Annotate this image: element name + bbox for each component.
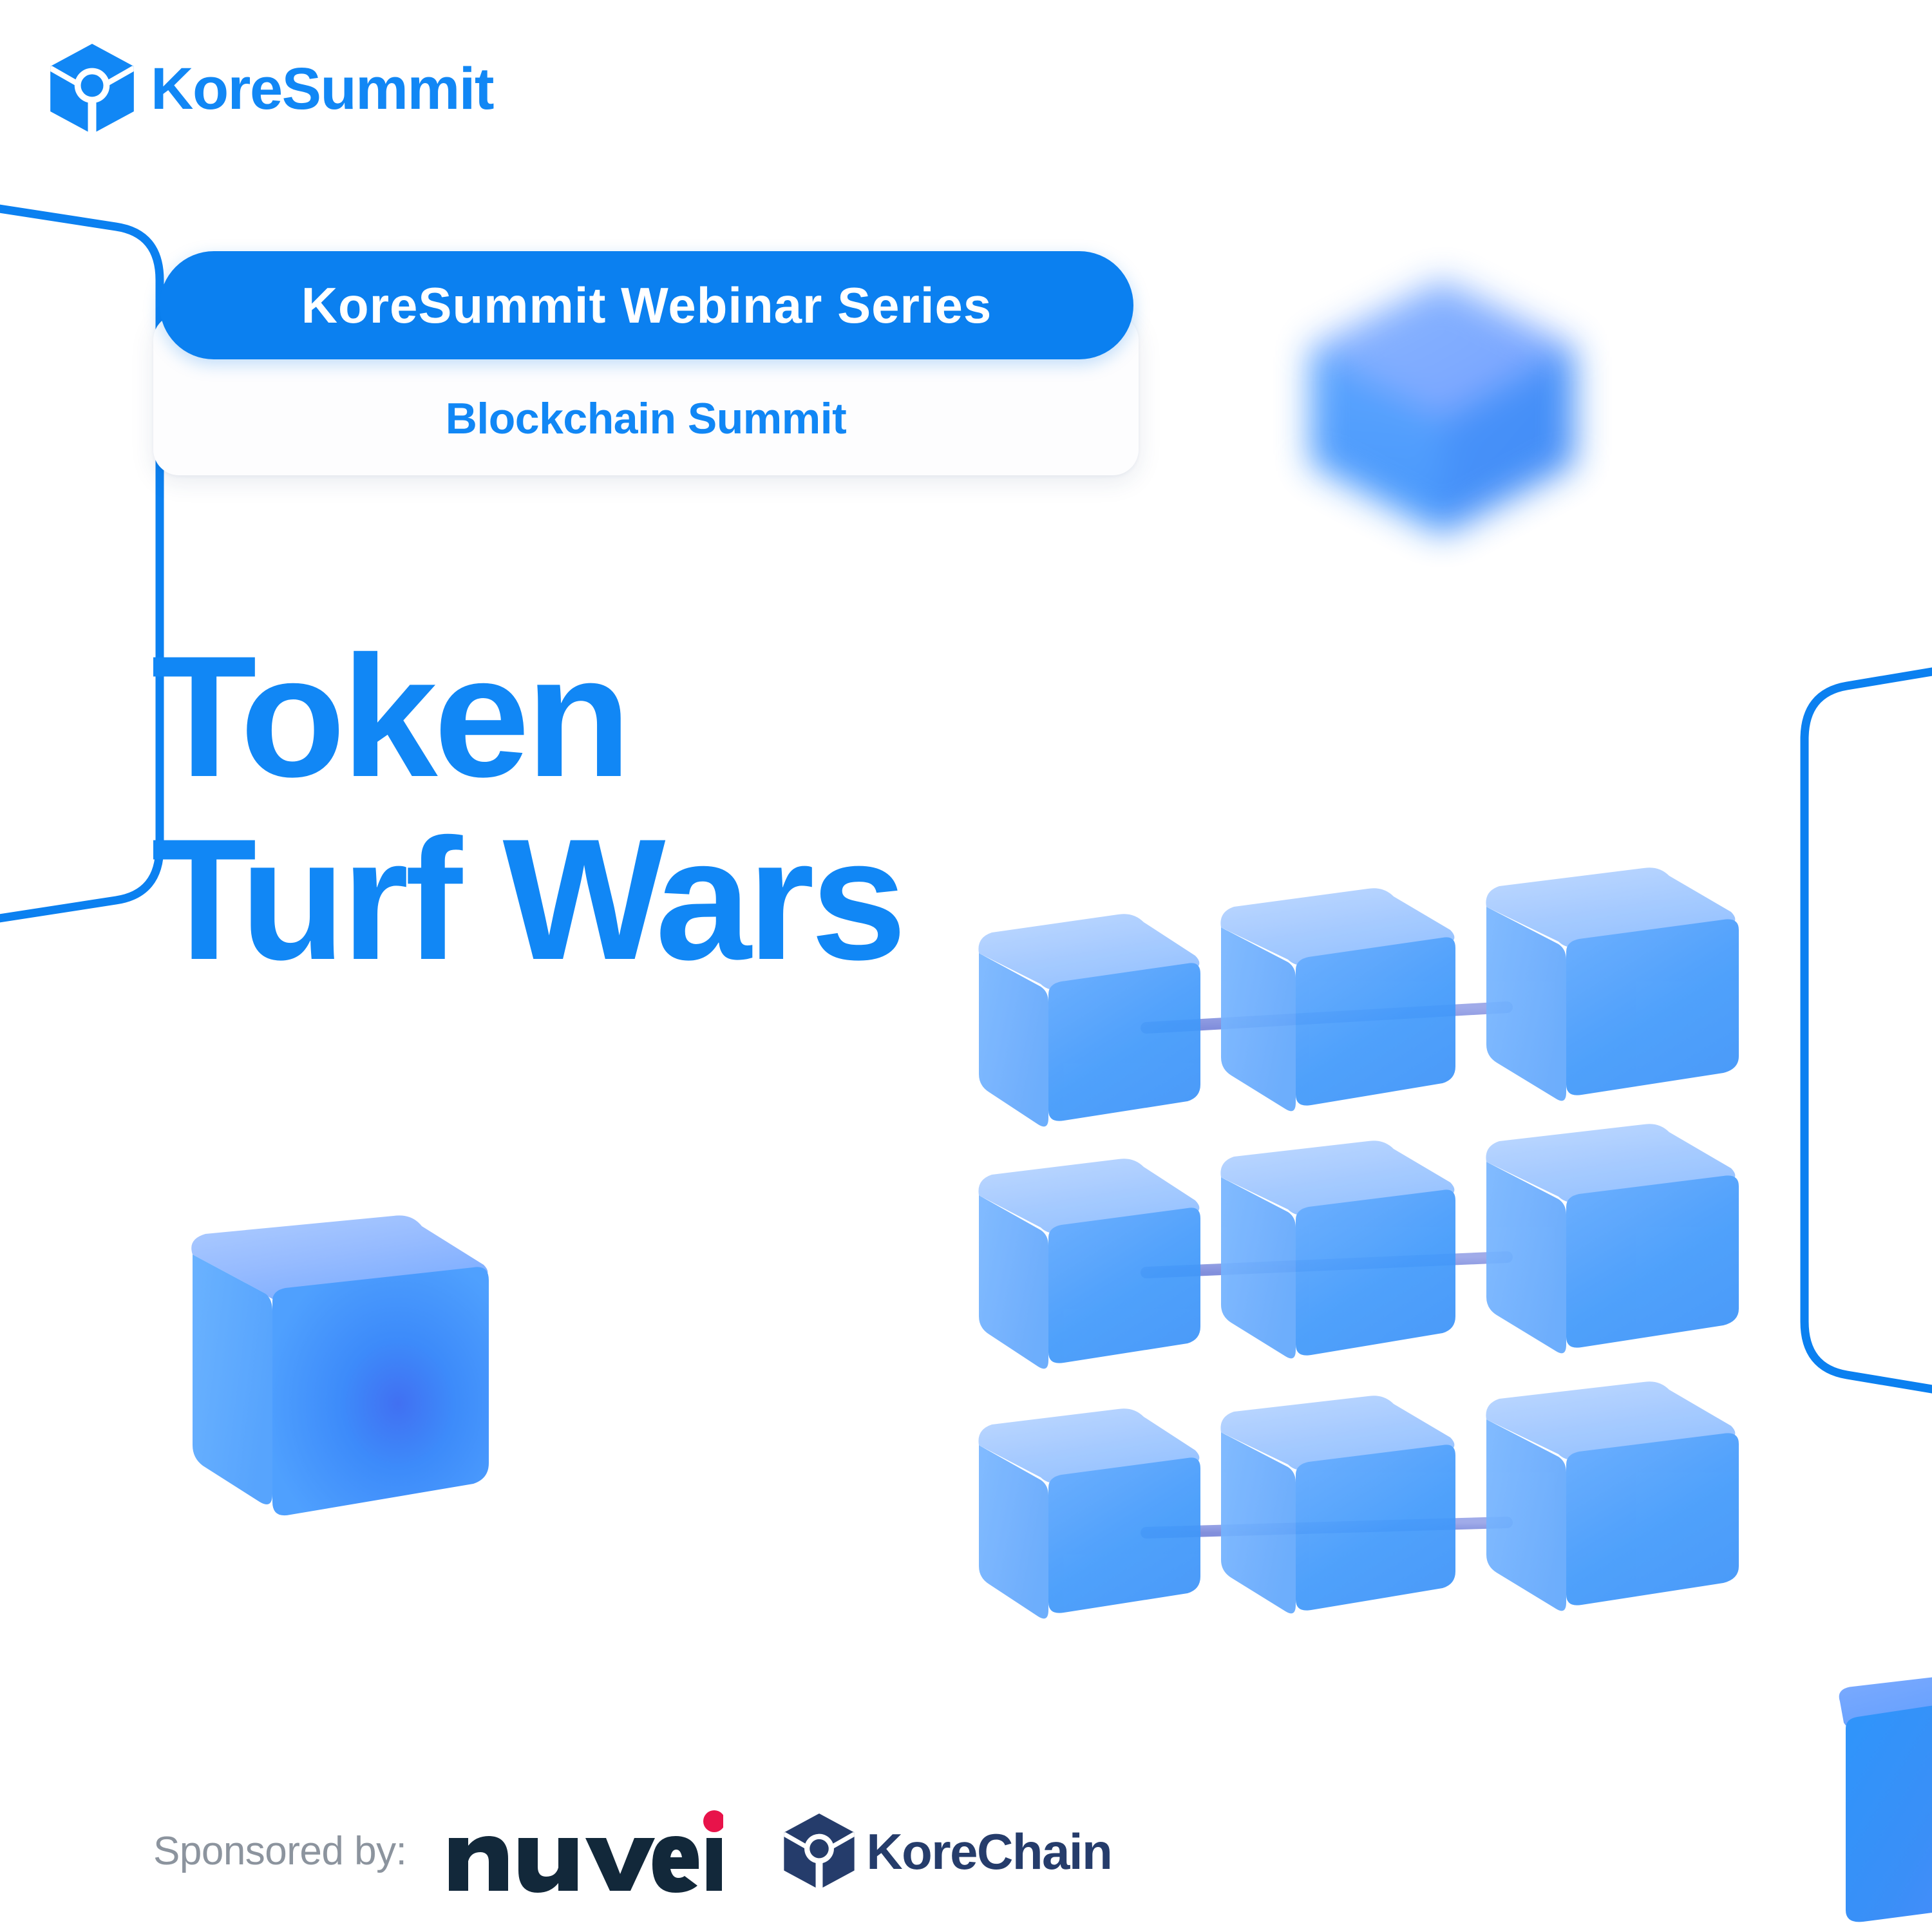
korechain-name: KoreChain (866, 1826, 1112, 1877)
page-title: Token Turf Wars (151, 625, 903, 990)
webinar-promo-poster: KoreSummit Blockchain Summit KoreSummit … (0, 0, 1932, 1932)
floating-cube-icon (164, 1211, 512, 1546)
blurred-cube-icon (1285, 267, 1600, 544)
sponsored-by-label: Sponsored by: (153, 1832, 406, 1871)
webinar-series-label: KoreSummit Webinar Series (301, 280, 992, 330)
webinar-series-pill: KoreSummit Webinar Series (160, 251, 1133, 359)
corner-cube-icon (1803, 1674, 1932, 1932)
brand-name: KoreSummit (151, 59, 493, 118)
korechain-logo[interactable]: KoreChain (784, 1814, 1112, 1889)
sponsor-section: Sponsored by: (153, 1810, 1112, 1893)
brand-logo[interactable]: KoreSummit (50, 44, 493, 134)
blockchain-cube-grid-icon (966, 863, 1803, 1687)
event-name-label: Blockchain Summit (153, 397, 1139, 440)
nuvei-wordmark-icon[interactable] (446, 1810, 723, 1893)
page-title-line-2: Turf Wars (151, 808, 903, 990)
korechain-cube-node-icon (784, 1814, 855, 1889)
koresummit-cube-node-icon (50, 44, 134, 134)
page-title-line-1: Token (151, 625, 903, 808)
nuvei-accent-dot-icon (703, 1810, 723, 1832)
